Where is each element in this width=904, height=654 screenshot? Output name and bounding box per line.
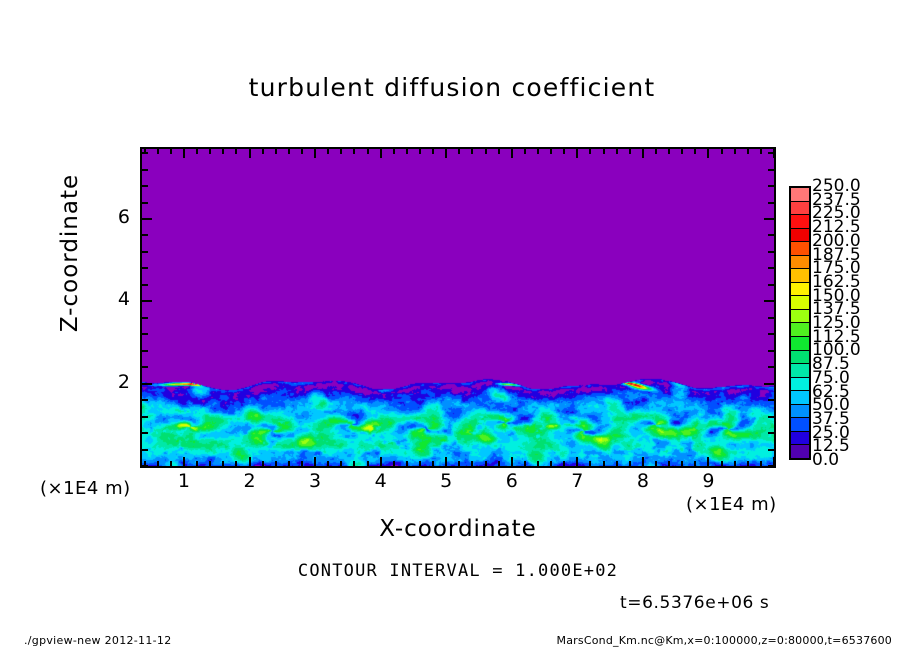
y-minor-tick [142, 284, 148, 286]
y-axis-title: Z-coordinate [57, 123, 83, 383]
colorbar-band [791, 283, 809, 297]
x-minor-tick-top [340, 149, 342, 154]
x-minor-tick [589, 461, 591, 466]
x-minor-tick [537, 461, 539, 466]
x-tick-label: 8 [623, 470, 663, 492]
y-minor-tick [142, 449, 148, 451]
x-minor-tick [157, 461, 159, 466]
x-tick-label: 4 [361, 470, 401, 492]
x-major-tick-top [314, 149, 316, 158]
colorbar-band [791, 418, 809, 432]
y-minor-tick-right [768, 284, 774, 286]
y-minor-tick-right [768, 251, 774, 253]
y-minor-tick [142, 234, 148, 236]
y-minor-tick [142, 317, 148, 319]
colorbar-band [791, 391, 809, 405]
x-major-tick [511, 457, 513, 466]
colorbar-band [791, 405, 809, 419]
colorbar-band [791, 256, 809, 270]
contour-interval-label: CONTOUR INTERVAL = 1.000E+02 [140, 561, 776, 581]
x-minor-tick-top [419, 149, 421, 154]
x-minor-tick [393, 461, 395, 466]
colorbar-band [791, 269, 809, 283]
x-major-tick [249, 457, 251, 466]
x-minor-tick-top [393, 149, 395, 154]
x-minor-tick-top [760, 149, 762, 154]
colorbar [789, 186, 811, 460]
x-minor-tick-top [235, 149, 237, 154]
x-minor-tick [471, 461, 473, 466]
x-tick-label: 1 [164, 470, 204, 492]
x-major-tick-top [183, 149, 185, 158]
y-minor-tick [142, 202, 148, 204]
colorbar-band [791, 445, 809, 458]
colorbar-tick-labels: 250.0237.5225.0212.5200.0187.5175.0162.5… [812, 182, 892, 472]
x-tick-label: 7 [557, 470, 597, 492]
y-minor-tick [142, 169, 148, 171]
y-major-tick [142, 383, 152, 385]
x-minor-tick [209, 461, 211, 466]
x-tick-label: 5 [426, 470, 466, 492]
footer-source-label: MarsCond_Km.nc@Km,x=0:100000,z=0:80000,t… [557, 634, 892, 647]
y-minor-tick [142, 399, 148, 401]
x-minor-tick [262, 461, 264, 466]
y-minor-tick [142, 152, 148, 154]
x-minor-tick [458, 461, 460, 466]
y-minor-tick [142, 251, 148, 253]
colorbar-tick-label: 0.0 [812, 452, 839, 469]
x-minor-tick [196, 461, 198, 466]
x-minor-tick-top [353, 149, 355, 154]
x-tick-label: 3 [295, 470, 335, 492]
x-minor-tick [616, 461, 618, 466]
y-minor-tick [142, 432, 148, 434]
x-axis-unit-right: (×1E4 m) [686, 494, 777, 515]
x-minor-tick [550, 461, 552, 466]
y-major-tick [142, 218, 152, 220]
y-tick-label: 4 [100, 288, 130, 310]
y-minor-tick-right [768, 465, 774, 467]
colorbar-band [791, 364, 809, 378]
y-tick-label: 2 [100, 371, 130, 393]
x-minor-tick-top [485, 149, 487, 154]
x-minor-tick [655, 461, 657, 466]
x-minor-tick-top [563, 149, 565, 154]
x-minor-tick [275, 461, 277, 466]
x-major-tick [642, 457, 644, 466]
colorbar-band [791, 310, 809, 324]
axis-tick-layer [142, 149, 774, 466]
colorbar-band [791, 378, 809, 392]
x-minor-tick-top [288, 149, 290, 154]
y-tick-label: 6 [100, 206, 130, 228]
y-minor-tick-right [768, 202, 774, 204]
y-minor-tick-right [768, 432, 774, 434]
y-minor-tick-right [768, 267, 774, 269]
y-minor-tick-right [768, 317, 774, 319]
x-minor-tick [432, 461, 434, 466]
x-minor-tick-top [367, 149, 369, 154]
x-major-tick [445, 457, 447, 466]
colorbar-band [791, 202, 809, 216]
x-major-tick [183, 457, 185, 466]
x-minor-tick [340, 461, 342, 466]
y-minor-tick [142, 366, 148, 368]
x-minor-tick-top [550, 149, 552, 154]
x-minor-tick-top [170, 149, 172, 154]
y-major-tick [142, 300, 152, 302]
x-minor-tick [563, 461, 565, 466]
x-major-tick-top [511, 149, 513, 158]
x-major-tick-top [576, 149, 578, 158]
x-minor-tick [235, 461, 237, 466]
x-major-tick [314, 457, 316, 466]
x-major-tick-top [707, 149, 709, 158]
x-minor-tick-top [262, 149, 264, 154]
y-major-tick-right [764, 383, 774, 385]
x-minor-tick-top [747, 149, 749, 154]
x-minor-tick [603, 461, 605, 466]
y-minor-tick-right [768, 449, 774, 451]
y-minor-tick-right [768, 416, 774, 418]
x-minor-tick [734, 461, 736, 466]
x-minor-tick [694, 461, 696, 466]
y-minor-tick-right [768, 399, 774, 401]
x-minor-tick-top [603, 149, 605, 154]
x-minor-tick [301, 461, 303, 466]
y-major-tick-right [764, 300, 774, 302]
x-minor-tick-top [655, 149, 657, 154]
x-minor-tick-top [616, 149, 618, 154]
x-minor-tick-top [222, 149, 224, 154]
x-minor-tick-top [734, 149, 736, 154]
x-minor-tick [170, 461, 172, 466]
x-minor-tick [419, 461, 421, 466]
x-minor-tick-top [209, 149, 211, 154]
x-minor-tick [721, 461, 723, 466]
page-title: turbulent diffusion coefficient [0, 73, 904, 102]
y-minor-tick-right [768, 185, 774, 187]
x-minor-tick [629, 461, 631, 466]
y-minor-tick [142, 416, 148, 418]
x-minor-tick [353, 461, 355, 466]
y-minor-tick-right [768, 350, 774, 352]
colorbar-band [791, 337, 809, 351]
x-minor-tick-top [668, 149, 670, 154]
x-major-tick-top [445, 149, 447, 158]
x-minor-tick-top [537, 149, 539, 154]
x-minor-tick [406, 461, 408, 466]
x-axis-unit-left: (×1E4 m) [40, 478, 131, 499]
x-minor-tick-top [471, 149, 473, 154]
x-major-tick [380, 457, 382, 466]
colorbar-band [791, 296, 809, 310]
x-minor-tick [681, 461, 683, 466]
x-minor-tick [367, 461, 369, 466]
x-major-tick-top [380, 149, 382, 158]
x-minor-tick-top [694, 149, 696, 154]
x-minor-tick-top [275, 149, 277, 154]
colorbar-band [791, 323, 809, 337]
x-minor-tick [327, 461, 329, 466]
x-major-tick [576, 457, 578, 466]
y-minor-tick [142, 267, 148, 269]
x-minor-tick [498, 461, 500, 466]
x-minor-tick-top [498, 149, 500, 154]
x-minor-tick-top [406, 149, 408, 154]
plot-area [140, 147, 776, 468]
colorbar-band [791, 351, 809, 365]
y-minor-tick-right [768, 333, 774, 335]
y-major-tick-right [764, 218, 774, 220]
x-minor-tick [524, 461, 526, 466]
y-minor-tick-right [768, 234, 774, 236]
x-minor-tick [288, 461, 290, 466]
x-minor-tick-top [458, 149, 460, 154]
x-minor-tick-top [629, 149, 631, 154]
y-minor-tick-right [768, 169, 774, 171]
x-axis-title: X-coordinate [140, 516, 776, 542]
colorbar-band [791, 215, 809, 229]
x-minor-tick-top [721, 149, 723, 154]
colorbar-band [791, 242, 809, 256]
footer-command-label: ./gpview-new 2012-11-12 [24, 634, 172, 647]
x-minor-tick-top [327, 149, 329, 154]
colorbar-band [791, 188, 809, 202]
y-minor-tick [142, 185, 148, 187]
x-major-tick [707, 457, 709, 466]
y-minor-tick [142, 465, 148, 467]
x-tick-label: 9 [688, 470, 728, 492]
x-tick-label: 6 [492, 470, 532, 492]
x-minor-tick [760, 461, 762, 466]
x-minor-tick [485, 461, 487, 466]
x-minor-tick-top [157, 149, 159, 154]
colorbar-band [791, 229, 809, 243]
x-minor-tick-top [681, 149, 683, 154]
x-minor-tick-top [301, 149, 303, 154]
x-major-tick-top [642, 149, 644, 158]
x-tick-label: 2 [230, 470, 270, 492]
timestamp-label: t=6.5376e+06 s [620, 593, 769, 613]
x-minor-tick [668, 461, 670, 466]
x-minor-tick [222, 461, 224, 466]
x-minor-tick-top [589, 149, 591, 154]
x-minor-tick-top [524, 149, 526, 154]
x-major-tick-top [249, 149, 251, 158]
x-minor-tick-top [432, 149, 434, 154]
colorbar-band [791, 432, 809, 446]
y-minor-tick [142, 350, 148, 352]
y-minor-tick-right [768, 366, 774, 368]
y-minor-tick [142, 333, 148, 335]
y-minor-tick-right [768, 152, 774, 154]
x-minor-tick [747, 461, 749, 466]
x-minor-tick-top [196, 149, 198, 154]
